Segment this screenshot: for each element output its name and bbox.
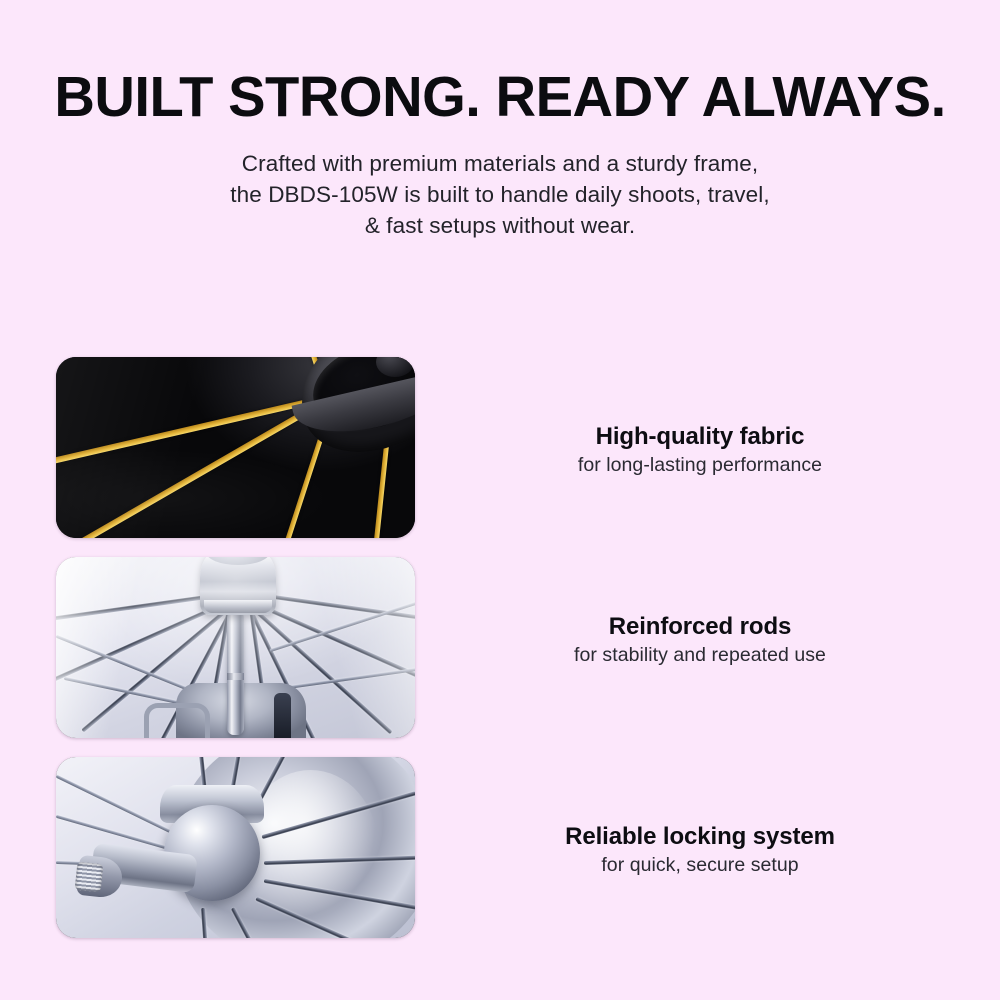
fabric-photo (56, 357, 415, 538)
feature-subtitle: for quick, secure setup (420, 852, 980, 879)
feature-text-3: Reliable locking system for quick, secur… (420, 821, 980, 879)
page-title: BUILT STRONG. READY ALWAYS. (8, 68, 993, 126)
feature-subtitle: for stability and repeated use (420, 642, 980, 669)
page-subtitle-line-3: & fast setups without wear. (140, 210, 860, 241)
feature-text-2: Reinforced rods for stability and repeat… (420, 611, 980, 669)
threaded-socket-icon (75, 862, 104, 893)
page-subtitle-line-2: the DBDS-105W is built to handle daily s… (140, 179, 860, 210)
locking-system-photo (56, 757, 415, 938)
rods-photo (56, 557, 415, 738)
feature-image-card-locking-system (56, 757, 415, 938)
feature-title: High-quality fabric (420, 421, 980, 452)
umbrella-sheen (56, 557, 415, 738)
feature-image-card-rods (56, 557, 415, 738)
feature-text-1: High-quality fabric for long-lasting per… (420, 421, 980, 479)
page-subtitle: Crafted with premium materials and a stu… (140, 148, 860, 241)
feature-subtitle: for long-lasting performance (420, 452, 980, 479)
feature-image-card-fabric (56, 357, 415, 538)
feature-title: Reliable locking system (420, 821, 980, 852)
feature-title: Reinforced rods (420, 611, 980, 642)
fabric-sheen (56, 357, 415, 538)
product-feature-poster: BUILT STRONG. READY ALWAYS. Crafted with… (0, 0, 1000, 1000)
page-subtitle-line-1: Crafted with premium materials and a stu… (140, 148, 860, 179)
